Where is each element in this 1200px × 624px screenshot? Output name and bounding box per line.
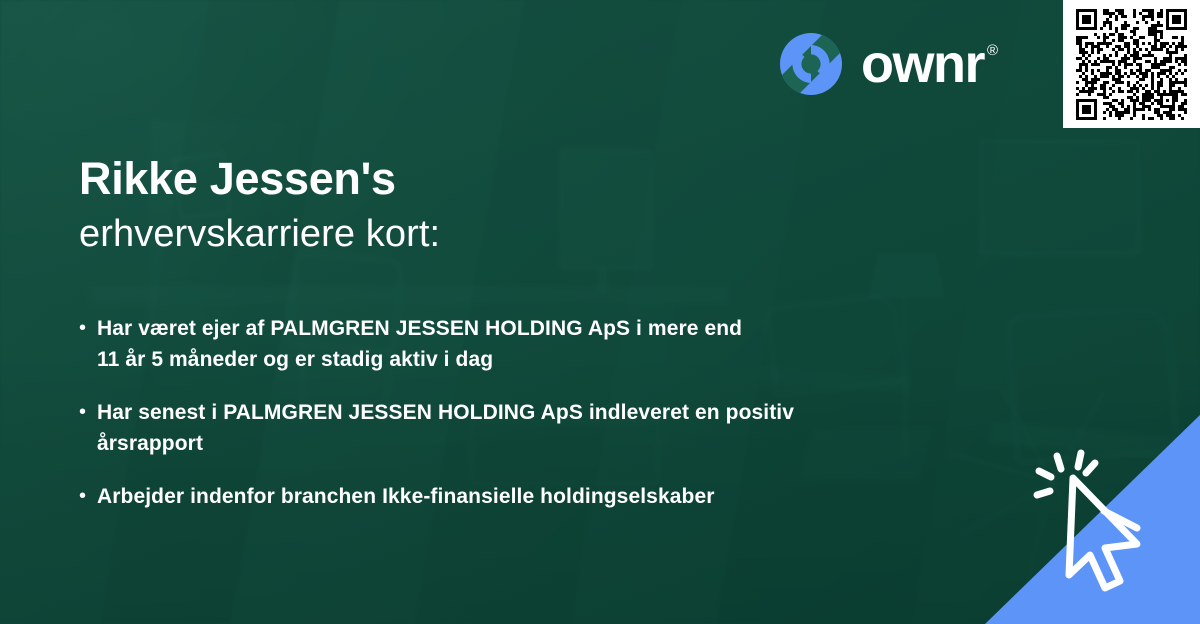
list-item: • Har senest i PALMGREN JESSEN HOLDING A…	[79, 397, 999, 459]
qr-code-icon	[1076, 9, 1187, 120]
blue-corner-accent	[985, 415, 1200, 624]
list-item-text: Arbejder indenfor branchen Ikke-finansie…	[97, 481, 715, 512]
career-highlights-list: • Har været ejer af PALMGREN JESSEN HOLD…	[79, 313, 999, 534]
list-item: • Arbejder indenfor branchen Ikke-finans…	[79, 481, 999, 512]
bullet-marker: •	[79, 397, 97, 428]
headline-line-2: erhvervskarriere kort:	[79, 211, 440, 259]
headline-line-1: Rikke Jessen's	[79, 156, 440, 201]
registered-trademark-symbol: ®	[987, 43, 998, 58]
page-title: Rikke Jessen's erhvervskarriere kort:	[79, 156, 440, 259]
list-item-text: Har været ejer af PALMGREN JESSEN HOLDIN…	[97, 313, 742, 375]
bullet-marker: •	[79, 481, 97, 512]
list-item-line-2: 11 år 5 måneder og er stadig aktiv i dag	[97, 344, 742, 375]
qr-code-panel[interactable]	[1063, 0, 1200, 128]
list-item: • Har været ejer af PALMGREN JESSEN HOLD…	[79, 313, 999, 375]
corner-triangle-icon	[985, 415, 1200, 624]
list-item-line-2: årsrapport	[97, 428, 794, 459]
list-item-line-1: Arbejder indenfor branchen Ikke-finansie…	[97, 485, 715, 508]
list-item-line-1: Har senest i PALMGREN JESSEN HOLDING ApS…	[97, 401, 794, 424]
list-item-line-1: Har været ejer af PALMGREN JESSEN HOLDIN…	[97, 317, 742, 340]
ownr-logo[interactable]: ownr ®	[779, 32, 998, 96]
bullet-marker: •	[79, 313, 97, 344]
ownr-wordmark: ownr	[861, 37, 984, 91]
list-item-text: Har senest i PALMGREN JESSEN HOLDING ApS…	[97, 397, 794, 459]
business-career-card: ownr ® Rikke Jessen's erhvervskarriere k…	[0, 0, 1200, 624]
ownr-swirl-icon	[779, 32, 843, 96]
